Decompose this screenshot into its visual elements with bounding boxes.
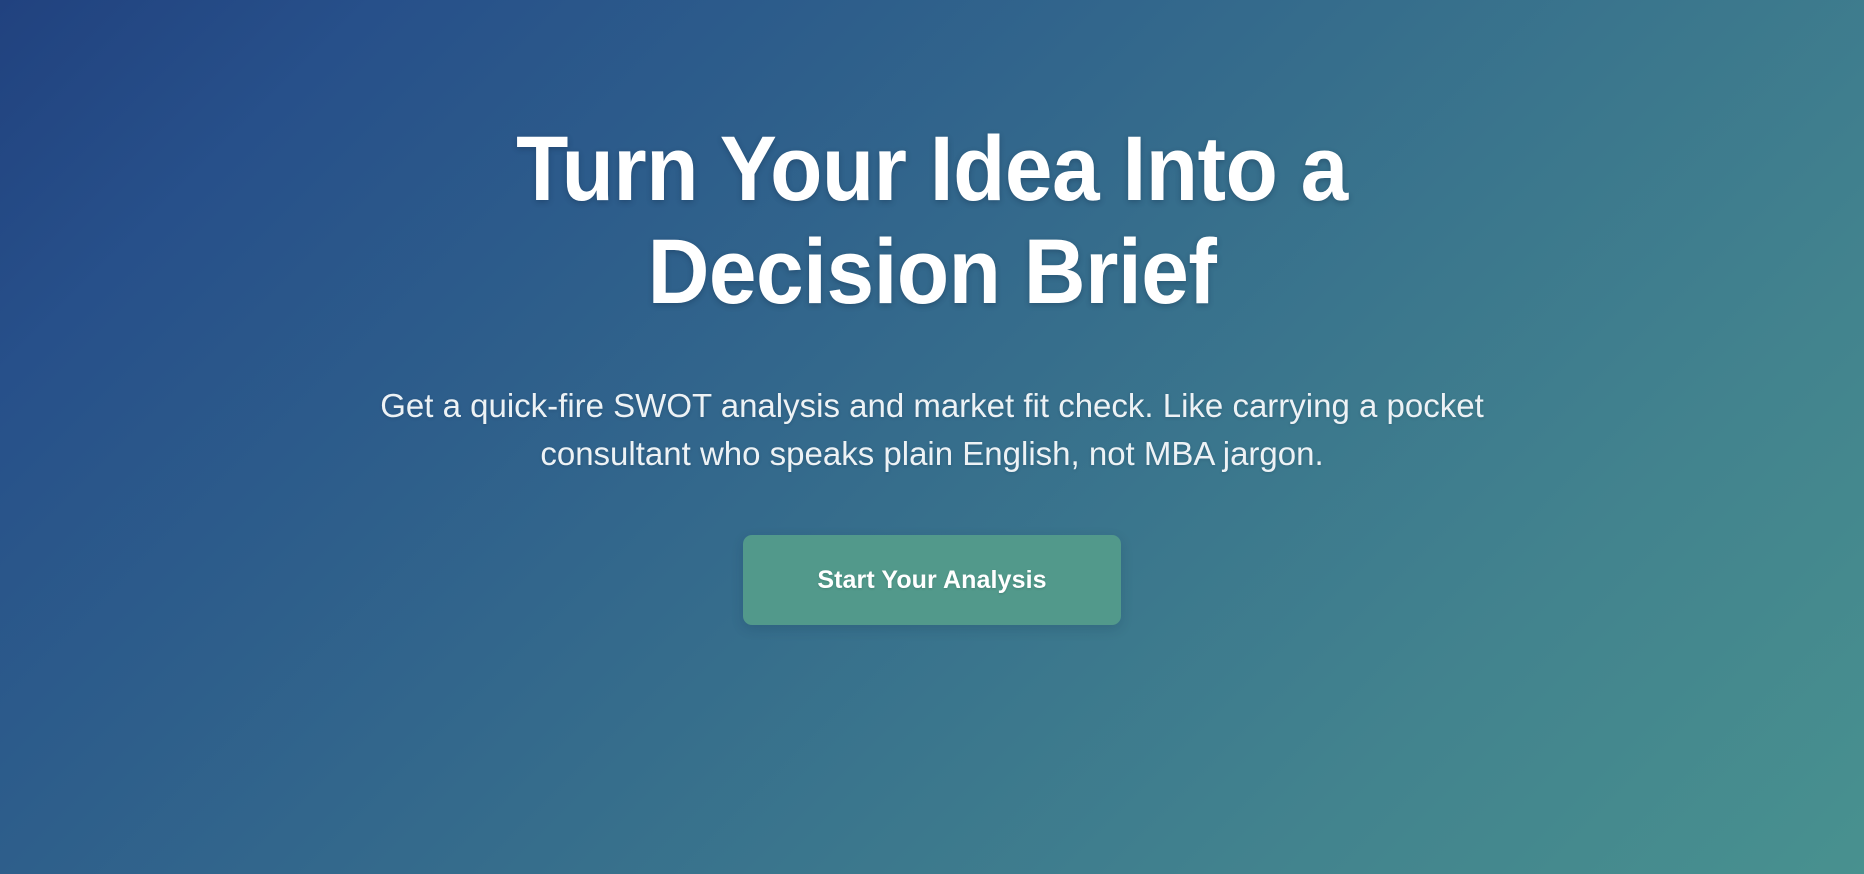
page-title: Turn Your Idea Into a Decision Brief [328, 118, 1537, 324]
start-analysis-button[interactable]: Start Your Analysis [743, 535, 1121, 625]
hero-section: Turn Your Idea Into a Decision Brief Get… [0, 0, 1864, 874]
cta-container: Start Your Analysis [282, 478, 1582, 625]
hero-content: Turn Your Idea Into a Decision Brief Get… [282, 0, 1582, 625]
hero-subtitle: Get a quick-fire SWOT analysis and marke… [342, 324, 1522, 478]
